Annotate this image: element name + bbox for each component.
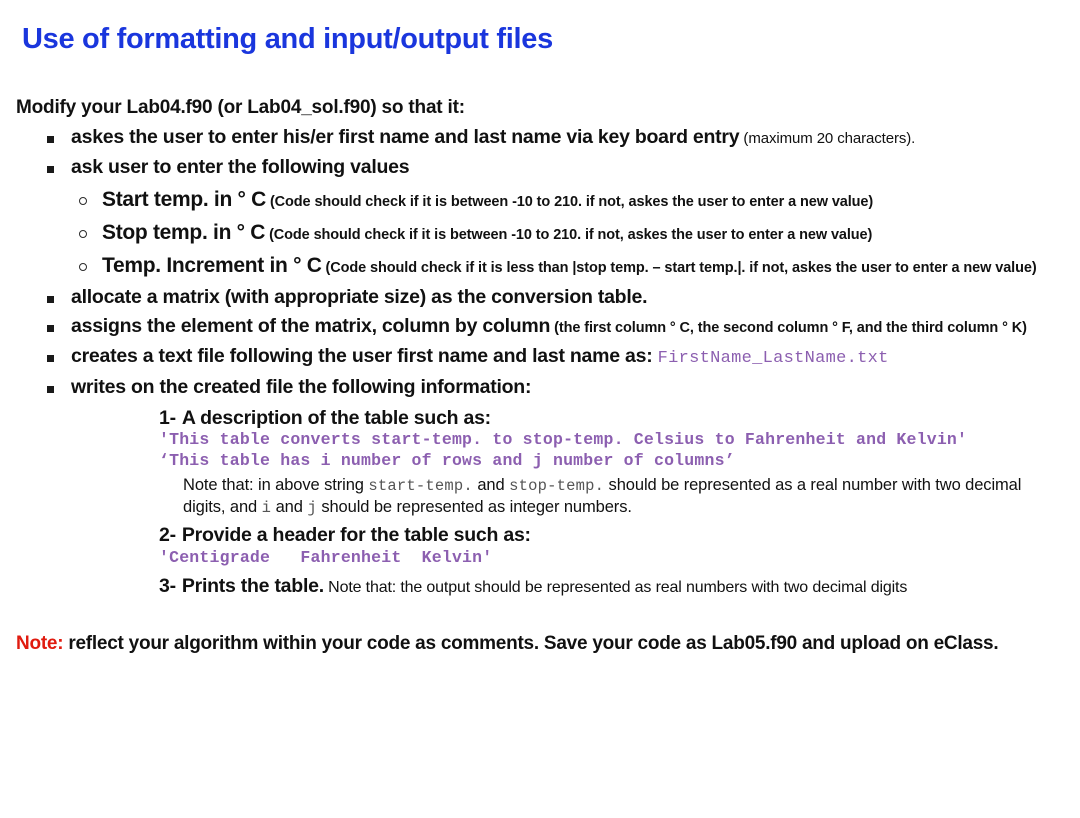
note-label: Note: [16, 633, 63, 654]
note-text: Note that: in above string [183, 476, 368, 494]
note-text: and [473, 476, 509, 494]
list-item: creates a text file following the user f… [14, 345, 1066, 369]
bullet-annotation: (the first column ° C, the second column… [550, 320, 1027, 336]
bullet-text: ask user to enter the following values [71, 156, 409, 178]
inline-code-j: j [307, 499, 317, 517]
step-number: 1- [159, 407, 176, 429]
page-title: Use of formatting and input/output files [22, 24, 1066, 56]
sub-bullet-text: Start temp. in ° C [102, 188, 266, 211]
lead-instruction: Modify your Lab04.f90 (or Lab04_sol.f90)… [16, 97, 1066, 119]
bullet-text: allocate a matrix (with appropriate size… [71, 286, 647, 308]
inline-code-start-temp: start-temp. [368, 477, 473, 495]
closing-note: Note: reflect your algorithm within your… [16, 632, 1066, 657]
list-item: writes on the created file the following… [14, 376, 1066, 598]
sub-bullet-annotation: (Code should check if it is between -10 … [265, 227, 872, 243]
step-title: Provide a header for the table such as: [182, 524, 531, 546]
bullet-text: askes the user to enter his/er first nam… [71, 126, 739, 148]
bullet-text: writes on the created file the following… [71, 376, 531, 398]
inline-code-i: i [262, 499, 272, 517]
list-item: ask user to enter the following values S… [14, 156, 1066, 279]
note-text: and [271, 498, 307, 516]
step-title: A description of the table such as: [182, 407, 491, 429]
sub-requirements-list: Start temp. in ° C (Code should check if… [71, 188, 1066, 279]
code-line: 'This table converts start-temp. to stop… [159, 430, 1066, 451]
note-body: reflect your algorithm within your code … [63, 633, 998, 654]
step-number: 2- [159, 524, 176, 546]
list-item: Start temp. in ° C (Code should check if… [71, 188, 1066, 212]
step-note: Note that: in above string start-temp. a… [183, 475, 1066, 519]
list-item: assigns the element of the matrix, colum… [14, 315, 1066, 338]
sub-bullet-annotation: (Code should check if it is between -10 … [266, 194, 873, 210]
step-inline-note: Note that: the output should be represen… [324, 579, 907, 596]
list-item: Temp. Increment in ° C (Code should chec… [71, 254, 1066, 278]
step-heading: 3-Prints the table. Note that: the outpu… [159, 575, 1066, 598]
step-heading: 2-Provide a header for the table such as… [159, 524, 1066, 547]
code-line: ‘This table has i number of rows and j n… [159, 451, 1066, 472]
sub-bullet-text: Temp. Increment in ° C [102, 254, 322, 277]
note-text: should be represented as integer numbers… [317, 498, 632, 516]
document-page: Use of formatting and input/output files… [0, 0, 1080, 818]
list-item: allocate a matrix (with appropriate size… [14, 286, 1066, 309]
requirements-list: askes the user to enter his/er first nam… [14, 126, 1066, 598]
list-item: Stop temp. in ° C (Code should check if … [71, 221, 1066, 245]
output-filename-code: FirstName_LastName.txt [658, 349, 889, 368]
step-heading: 1-A description of the table such as: [159, 407, 1066, 430]
bullet-annotation: (maximum 20 characters). [739, 130, 915, 147]
numbered-steps: 1-A description of the table such as: 'T… [71, 407, 1066, 598]
code-line: 'Centigrade Fahrenheit Kelvin' [159, 548, 1066, 569]
sub-bullet-text: Stop temp. in ° C [102, 221, 265, 244]
bullet-text: assigns the element of the matrix, colum… [71, 315, 550, 337]
step-title: Prints the table. [182, 575, 324, 597]
sub-bullet-annotation: (Code should check if it is less than |s… [322, 260, 1037, 276]
inline-code-stop-temp: stop-temp. [509, 477, 604, 495]
bullet-text: creates a text file following the user f… [71, 345, 658, 367]
step-number: 3- [159, 575, 176, 597]
list-item: askes the user to enter his/er first nam… [14, 126, 1066, 149]
